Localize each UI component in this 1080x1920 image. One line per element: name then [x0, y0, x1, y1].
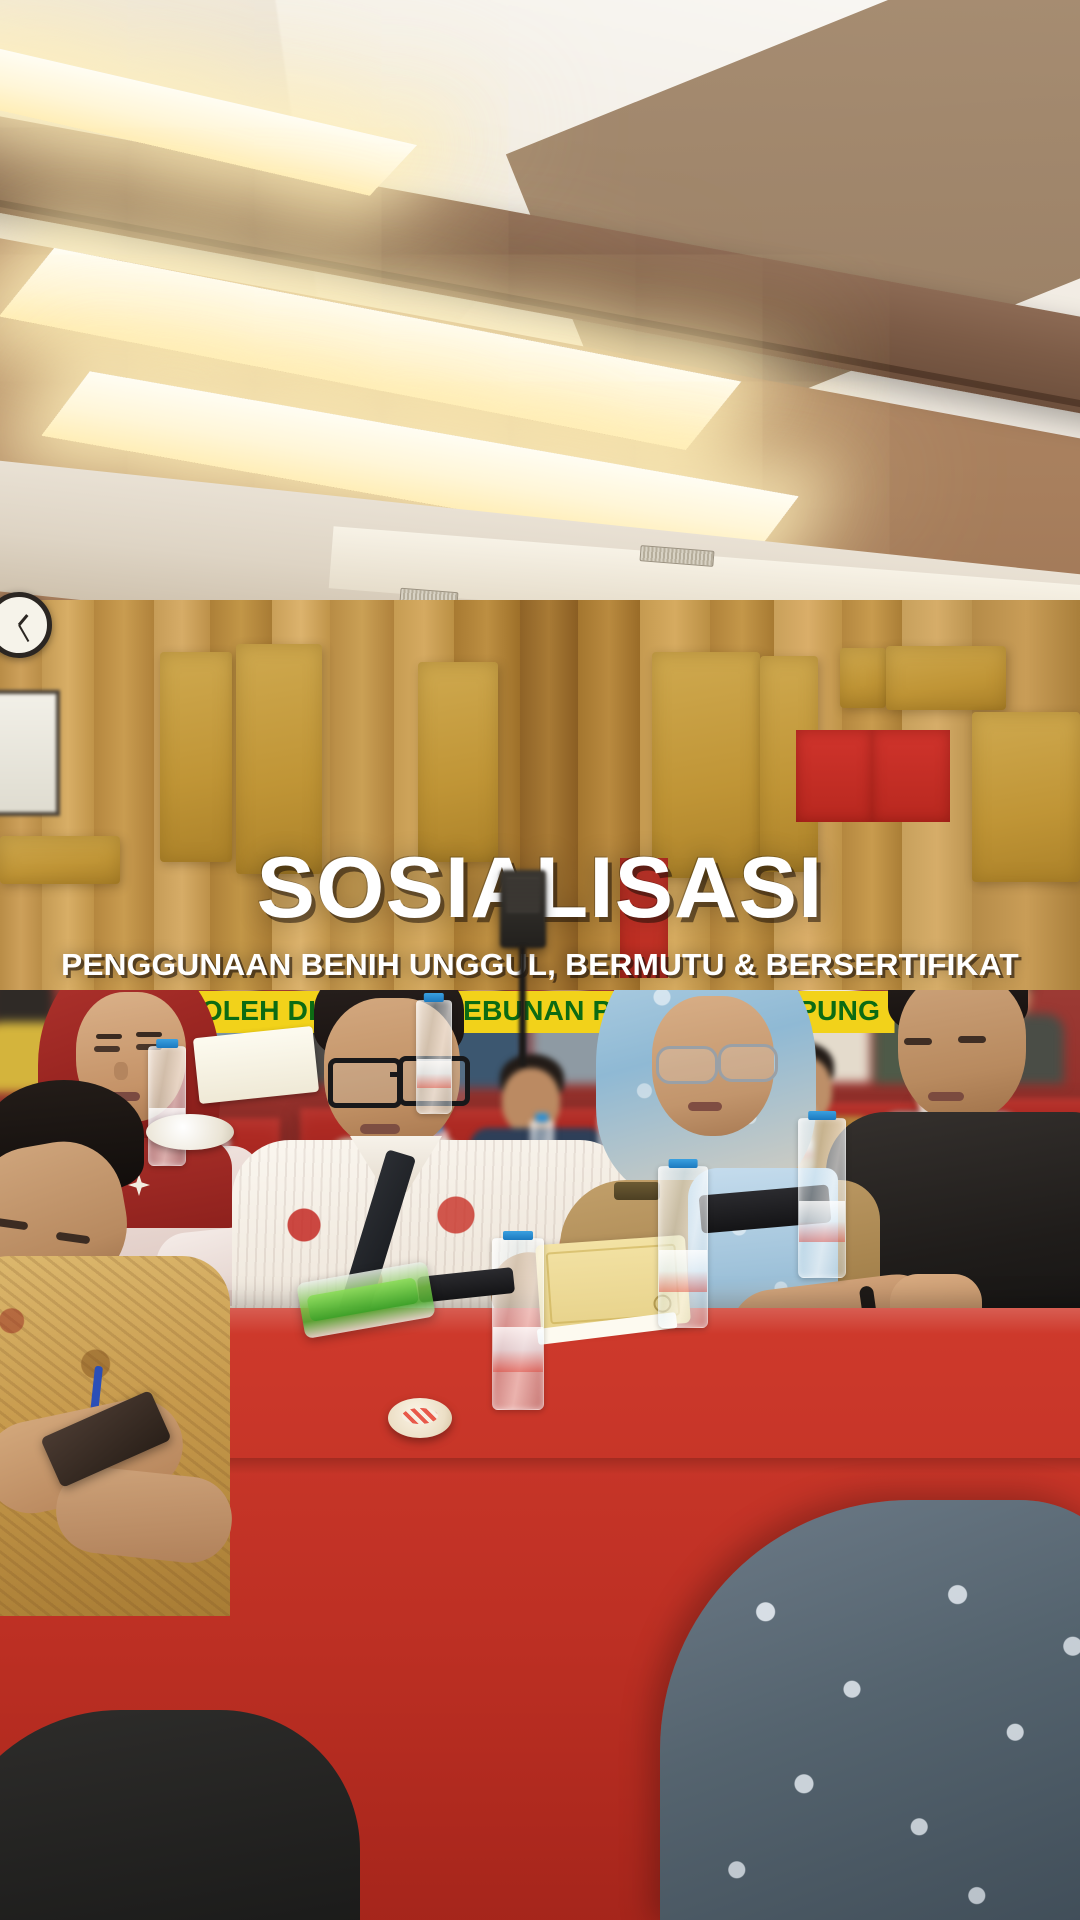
red-wall-panel [872, 730, 950, 822]
speaker-stand [519, 946, 526, 1066]
water-bottle [492, 1238, 544, 1410]
acoustic-pad [0, 836, 120, 884]
person-bottom-left-shoulder [0, 1710, 360, 1920]
acoustic-pad [972, 712, 1080, 882]
back-wall [0, 600, 1080, 1020]
person-blue-batik [660, 1460, 1080, 1920]
wood-panel [94, 600, 154, 1020]
audience-area [0, 990, 1080, 1920]
acoustic-pad [418, 662, 498, 862]
water-bottle [798, 1118, 846, 1278]
photo-scene: SOSIALISASI PENGGUNAAN BENIH UNGGUL, BER… [0, 0, 1080, 1920]
acoustic-pad [652, 652, 760, 878]
acoustic-pad [886, 646, 1006, 710]
snack-bowl [388, 1398, 452, 1438]
man-with-phone [0, 1080, 220, 1600]
red-wall-panel [620, 858, 668, 978]
acoustic-pad [236, 644, 322, 874]
water-bottle [416, 1000, 452, 1114]
ceiling [0, 0, 1080, 640]
water-bottle [658, 1166, 708, 1328]
wood-panel [520, 600, 578, 1020]
loudspeaker-icon [500, 870, 546, 948]
wood-panel [330, 600, 394, 1020]
red-wall-panel [796, 730, 872, 822]
projector-screen [0, 690, 60, 816]
acoustic-pad [840, 648, 886, 708]
acoustic-pad [160, 652, 232, 862]
